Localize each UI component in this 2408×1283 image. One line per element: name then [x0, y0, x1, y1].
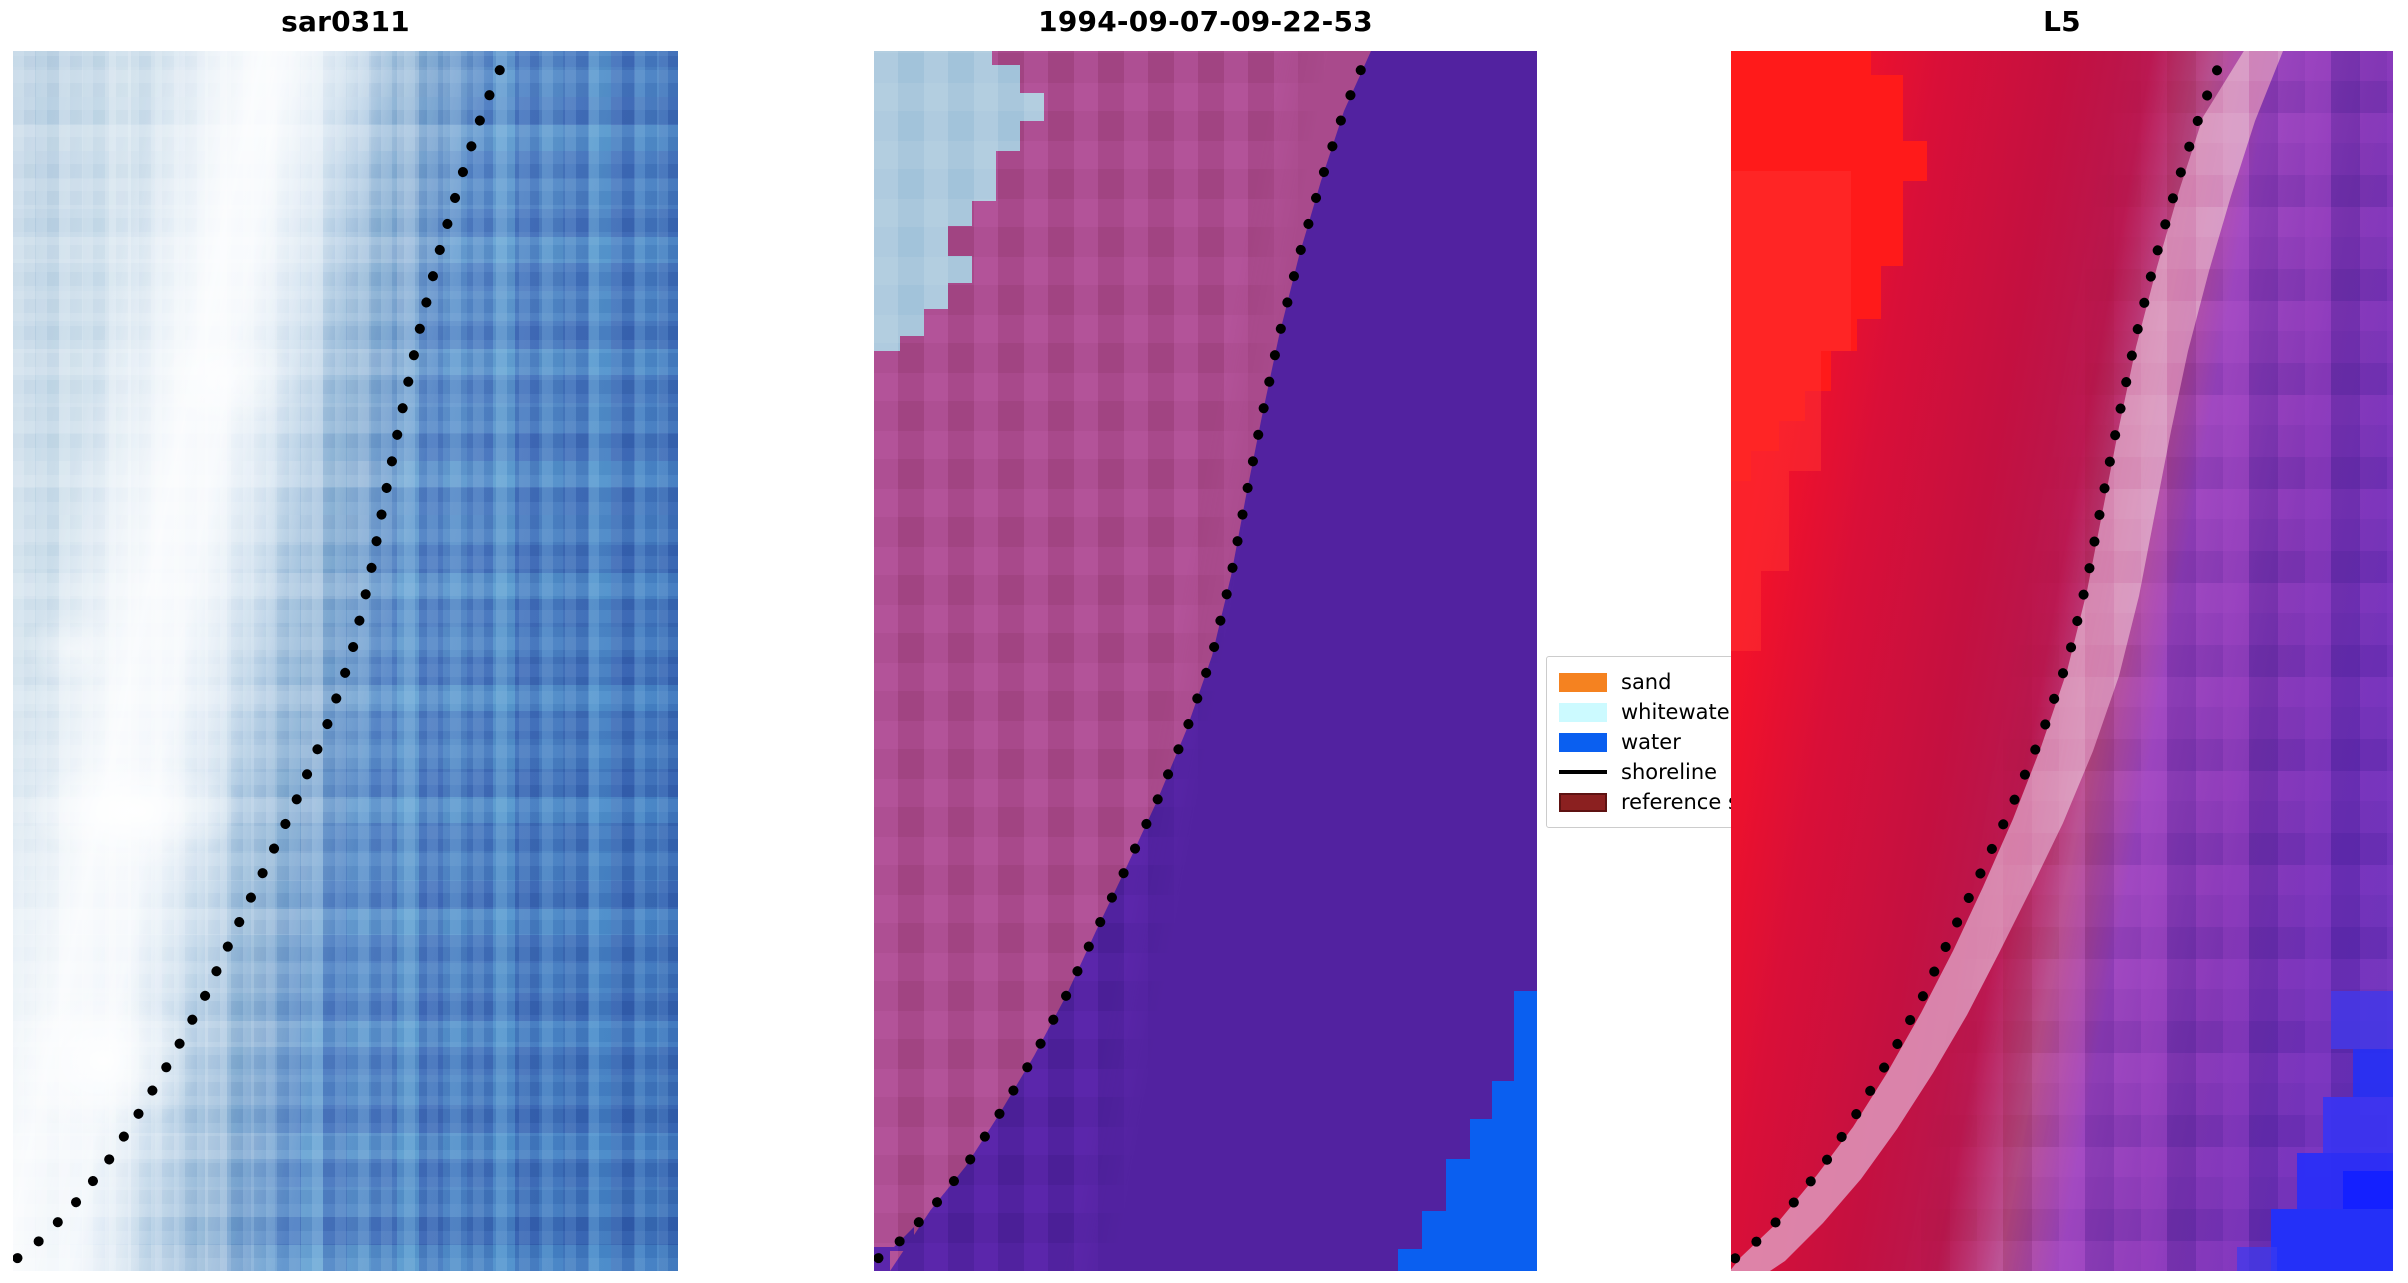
classified-image-axes[interactable]: [874, 51, 1537, 1271]
legend-label-sand: sand: [1621, 672, 1671, 693]
panel-title-sar: sar0311: [13, 8, 678, 36]
water-swatch: [1559, 733, 1607, 752]
legend-label-water: water: [1621, 732, 1681, 753]
l5-image-axes[interactable]: [1731, 51, 2393, 1271]
whitewater-swatch: [1559, 703, 1607, 722]
shoreline-line-marker: [1559, 763, 1607, 782]
shoreline-overlay-l5: [1731, 51, 2393, 1271]
coastsat-shoreline-figure: sar0311 1994-09-07-09-22-53: [0, 0, 2408, 1283]
panel-title-l5: L5: [1731, 8, 2393, 36]
sand-swatch: [1559, 673, 1607, 692]
reference-shoreline-swatch: [1559, 793, 1607, 812]
shoreline-overlay-sar: [13, 51, 678, 1271]
sar-image-axes[interactable]: [13, 51, 678, 1271]
shoreline-overlay-classified: [874, 51, 1537, 1271]
panel-title-classified: 1994-09-07-09-22-53: [874, 8, 1537, 36]
legend-label-shoreline: shoreline: [1621, 762, 1717, 783]
legend-label-whitewater: whitewater: [1621, 702, 1738, 723]
